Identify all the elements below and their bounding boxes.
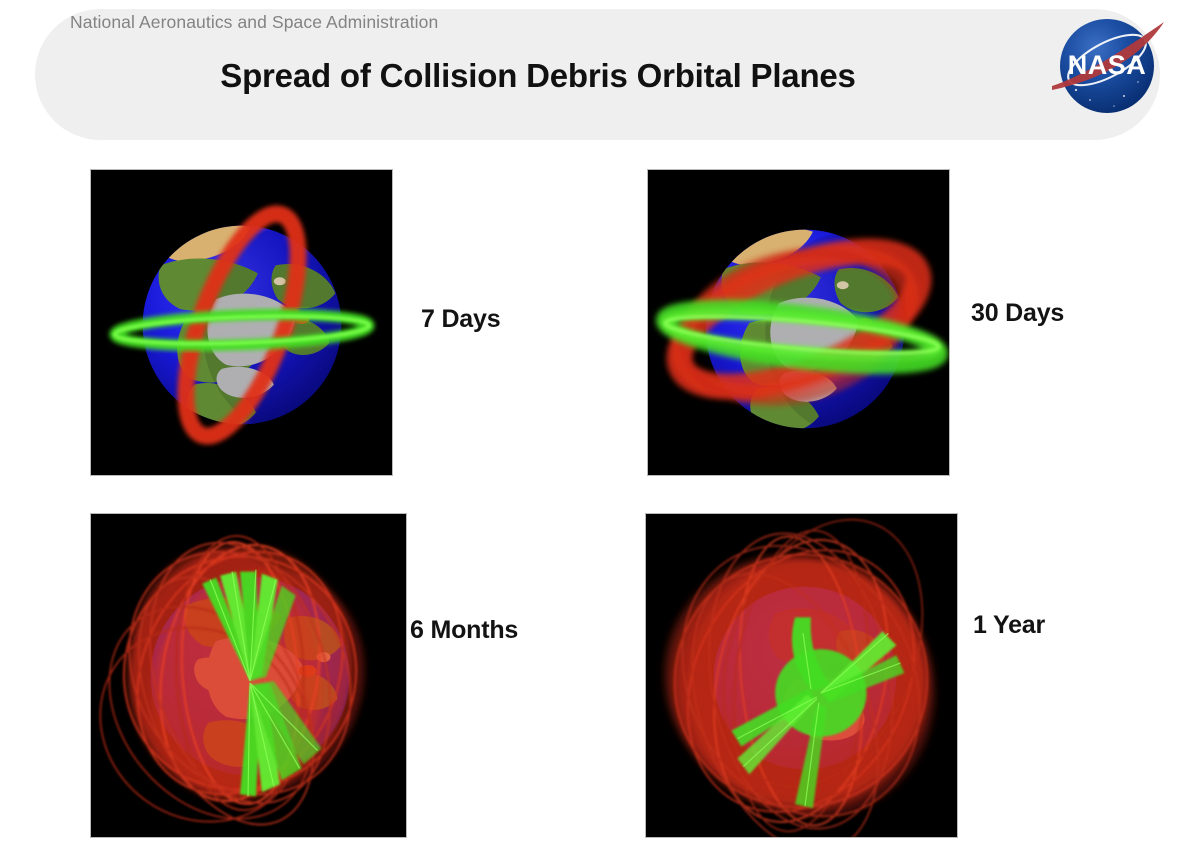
- nasa-meatball-logo: NASA: [1046, 12, 1168, 120]
- panel-label-1-year: 1 Year: [973, 611, 1045, 640]
- panel-6-months: 6 Months: [90, 513, 407, 838]
- page-title: Spread of Collision Debris Orbital Plane…: [0, 57, 1196, 95]
- nasa-logo-text: NASA: [1068, 50, 1147, 80]
- panel-30-days: 30 Days: [647, 169, 950, 476]
- panel-label-30-days: 30 Days: [971, 299, 1064, 328]
- panel-7-days: 7 Days: [90, 169, 393, 476]
- simulation-image-30-days: [647, 169, 950, 476]
- simulation-image-7-days: [90, 169, 393, 476]
- panel-label-7-days: 7 Days: [421, 305, 500, 334]
- agency-name: National Aeronautics and Space Administr…: [70, 12, 438, 33]
- panel-1-year: 1 Year: [645, 513, 958, 838]
- simulation-image-6-months: [90, 513, 407, 838]
- simulation-image-1-year: [645, 513, 958, 838]
- panel-label-6-months: 6 Months: [410, 616, 518, 645]
